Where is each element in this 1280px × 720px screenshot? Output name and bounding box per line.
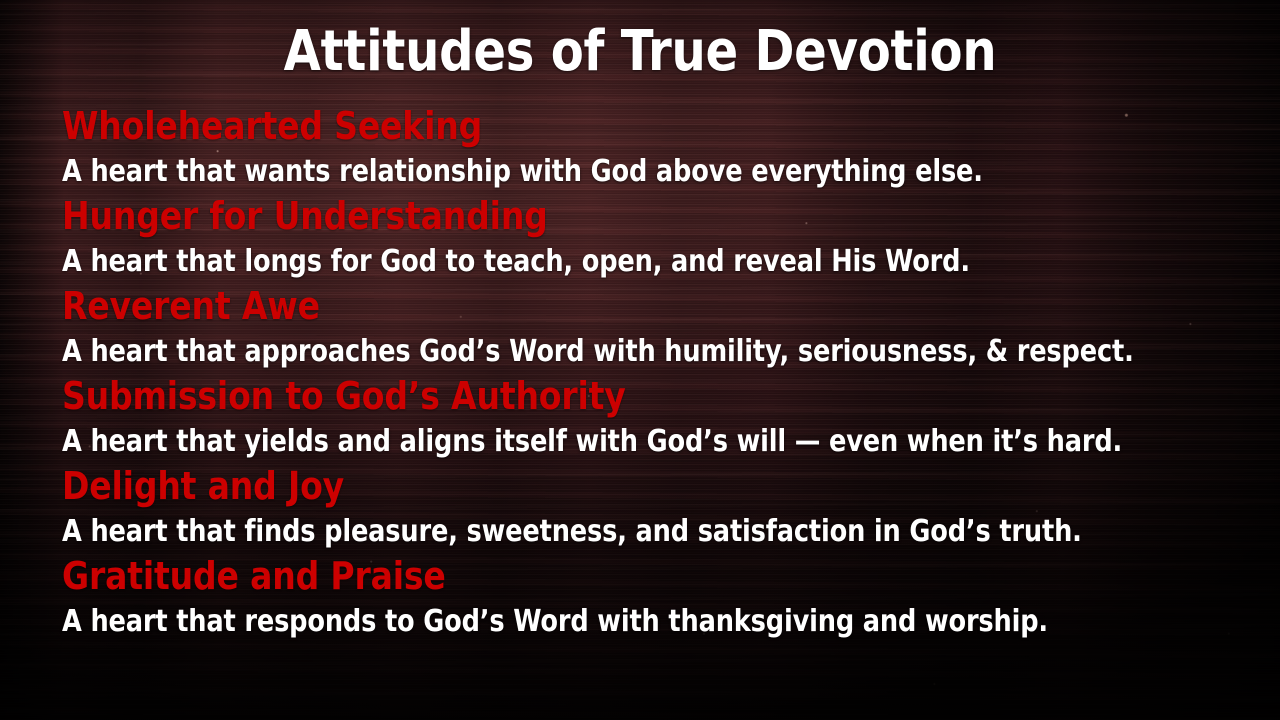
item-heading: Reverent Awe bbox=[62, 284, 1122, 329]
list-item: Hunger for Understanding A heart that lo… bbox=[0, 194, 1280, 284]
item-heading: Submission to God’s Authority bbox=[62, 374, 1122, 419]
presentation-slide: Attitudes of True Devotion Wholehearted … bbox=[0, 0, 1280, 720]
item-heading: Wholehearted Seeking bbox=[62, 104, 1122, 149]
slide-title: Attitudes of True Devotion bbox=[90, 24, 1191, 80]
slide-content: Attitudes of True Devotion Wholehearted … bbox=[0, 0, 1280, 720]
list-item: Wholehearted Seeking A heart that wants … bbox=[0, 104, 1280, 194]
list-item: Delight and Joy A heart that finds pleas… bbox=[0, 464, 1280, 554]
list-item: Gratitude and Praise A heart that respon… bbox=[0, 554, 1280, 644]
item-description: A heart that wants relationship with God… bbox=[62, 149, 1103, 194]
item-heading: Hunger for Understanding bbox=[62, 194, 1122, 239]
item-description: A heart that responds to God’s Word with… bbox=[62, 599, 1103, 644]
list-item: Submission to God’s Authority A heart th… bbox=[0, 374, 1280, 464]
attitudes-list: Wholehearted Seeking A heart that wants … bbox=[0, 104, 1280, 644]
item-description: A heart that longs for God to teach, ope… bbox=[62, 239, 1103, 284]
list-item: Reverent Awe A heart that approaches God… bbox=[0, 284, 1280, 374]
item-heading: Delight and Joy bbox=[62, 464, 1122, 509]
item-description: A heart that finds pleasure, sweetness, … bbox=[62, 509, 1103, 554]
item-description: A heart that approaches God’s Word with … bbox=[62, 329, 1103, 374]
item-description: A heart that yields and aligns itself wi… bbox=[62, 419, 1103, 464]
item-heading: Gratitude and Praise bbox=[62, 554, 1122, 599]
